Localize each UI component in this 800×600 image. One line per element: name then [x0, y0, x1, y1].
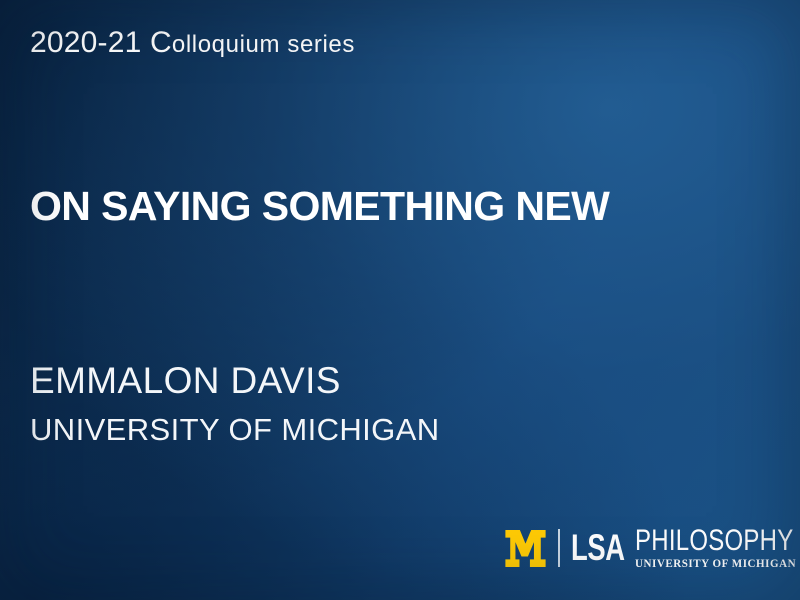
series-colloquium-rest: olloquium — [172, 31, 280, 58]
logo-institution: UNIVERSITY OF MICHIGAN — [635, 559, 800, 571]
colloquium-title-slide: 2020-21 Colloquium series ON SAYING SOME… — [0, 0, 800, 600]
block-m-icon — [505, 530, 546, 567]
logo-text-block: PHILOSOPHY UNIVERSITY OF MICHIGAN — [635, 526, 800, 571]
logo-lsa-wordmark: LSA — [571, 532, 621, 565]
series-year-range: 2020-21 — [30, 26, 142, 59]
logo-divider — [558, 529, 560, 567]
logo-department: PHILOSOPHY — [635, 526, 793, 556]
series-colloquium-initial: C — [150, 26, 172, 59]
speaker-name: EMMALON DAVIS — [30, 362, 341, 399]
series-word-series: series — [287, 31, 355, 58]
speaker-affiliation: UNIVERSITY OF MICHIGAN — [30, 414, 440, 445]
lsa-philosophy-logo: LSA PHILOSOPHY UNIVERSITY OF MICHIGAN — [505, 526, 800, 570]
talk-title: ON SAYING SOMETHING NEW — [30, 186, 609, 227]
series-eyebrow: 2020-21 Colloquium series — [30, 28, 355, 58]
